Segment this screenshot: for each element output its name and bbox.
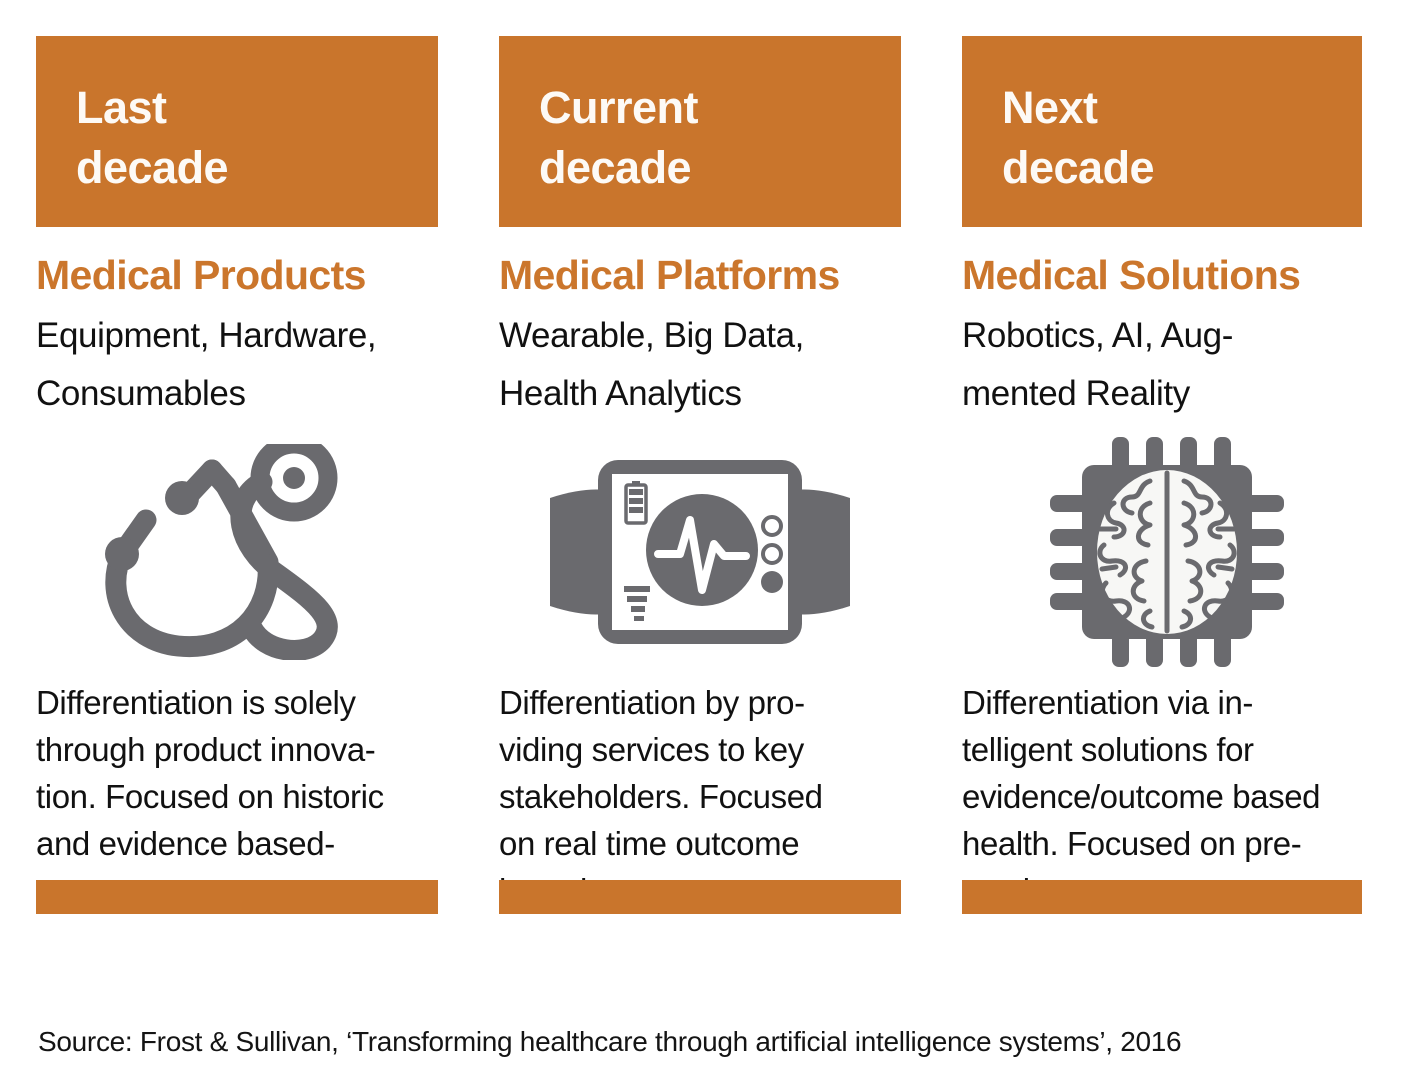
category-heading: Medical Platforms	[499, 251, 901, 299]
footer-accent-bar	[962, 880, 1362, 914]
column-next-decade: Next decade Medical Solutions Robotics, …	[962, 36, 1362, 914]
infographic-board: Last decade Medical Products Equipment, …	[0, 0, 1402, 1080]
columns-container: Last decade Medical Products Equipment, …	[36, 36, 1366, 914]
description-text: Differentiation by pro- viding services …	[499, 679, 901, 914]
brain-chip-icon	[1046, 433, 1288, 671]
era-banner-last-decade: Last decade	[36, 36, 438, 227]
footer-accent-bar	[499, 880, 901, 914]
stethoscope-icon	[86, 444, 358, 660]
era-title: Current decade	[539, 78, 901, 198]
icon-area	[36, 427, 438, 677]
era-title: Next decade	[1002, 78, 1362, 198]
keywords-text: Equipment, Hardware, Consumables	[36, 307, 438, 423]
category-heading: Medical Products	[36, 251, 438, 299]
source-citation: Source: Frost & Sullivan, ‘Transforming …	[38, 1026, 1181, 1058]
column-current-decade: Current decade Medical Platforms Wearabl…	[499, 36, 901, 914]
keywords-text: Wearable, Big Data, Health Analytics	[499, 307, 901, 423]
category-heading: Medical Solutions	[962, 251, 1362, 299]
era-banner-current-decade: Current decade	[499, 36, 901, 227]
icon-area	[962, 427, 1362, 677]
footer-accent-bar	[36, 880, 438, 914]
column-last-decade: Last decade Medical Products Equipment, …	[36, 36, 438, 914]
description-text: Differentiation is solely through produc…	[36, 679, 438, 914]
wearable-monitor-icon	[540, 454, 860, 650]
description-text: Differentiation via in- telligent soluti…	[962, 679, 1362, 914]
keywords-text: Robotics, AI, Aug- mented Reality	[962, 307, 1362, 423]
era-banner-next-decade: Next decade	[962, 36, 1362, 227]
icon-area	[499, 427, 901, 677]
era-title: Last decade	[76, 78, 438, 198]
